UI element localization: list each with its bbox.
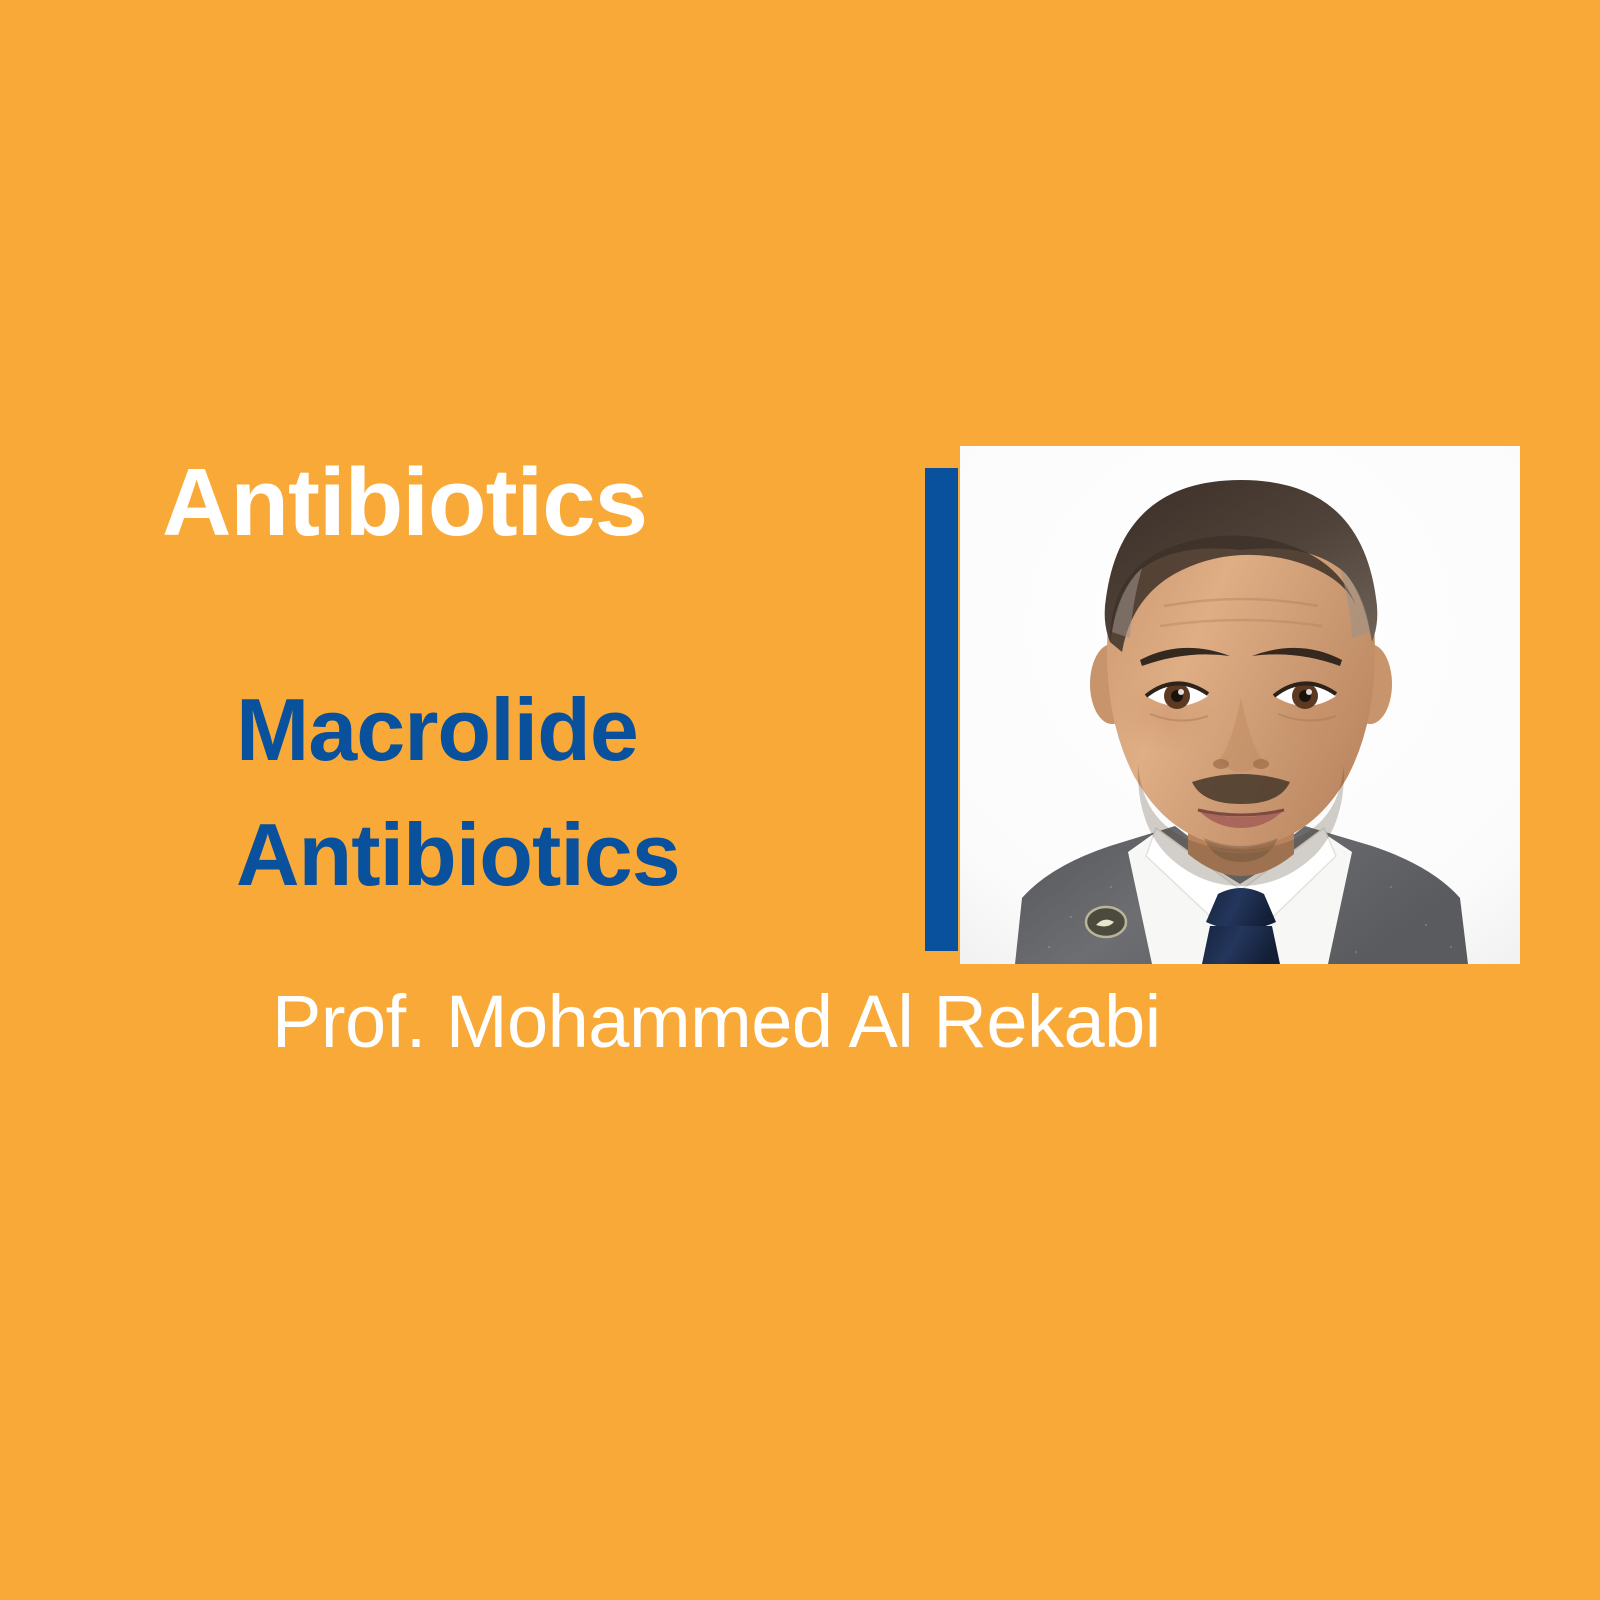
necktie-blade <box>1202 926 1280 964</box>
page-title: Antibiotics <box>162 455 647 551</box>
nostril-left <box>1213 759 1229 769</box>
subtitle-line-2: Antibiotics <box>236 793 680 918</box>
portrait-illustration <box>960 446 1520 964</box>
blue-accent-bar <box>925 468 958 951</box>
presenter-portrait-photo <box>960 446 1520 964</box>
presentation-slide: Antibiotics Macrolide Antibiotics Prof. … <box>0 0 1600 1600</box>
subtitle-line-1: Macrolide <box>236 680 638 779</box>
nostril-right <box>1253 759 1269 769</box>
slide-subtitle: Macrolide Antibiotics <box>236 668 680 918</box>
presenter-name: Prof. Mohammed Al Rekabi <box>272 985 1161 1059</box>
title-text-block: Antibiotics Macrolide Antibiotics Prof. … <box>0 0 900 1100</box>
